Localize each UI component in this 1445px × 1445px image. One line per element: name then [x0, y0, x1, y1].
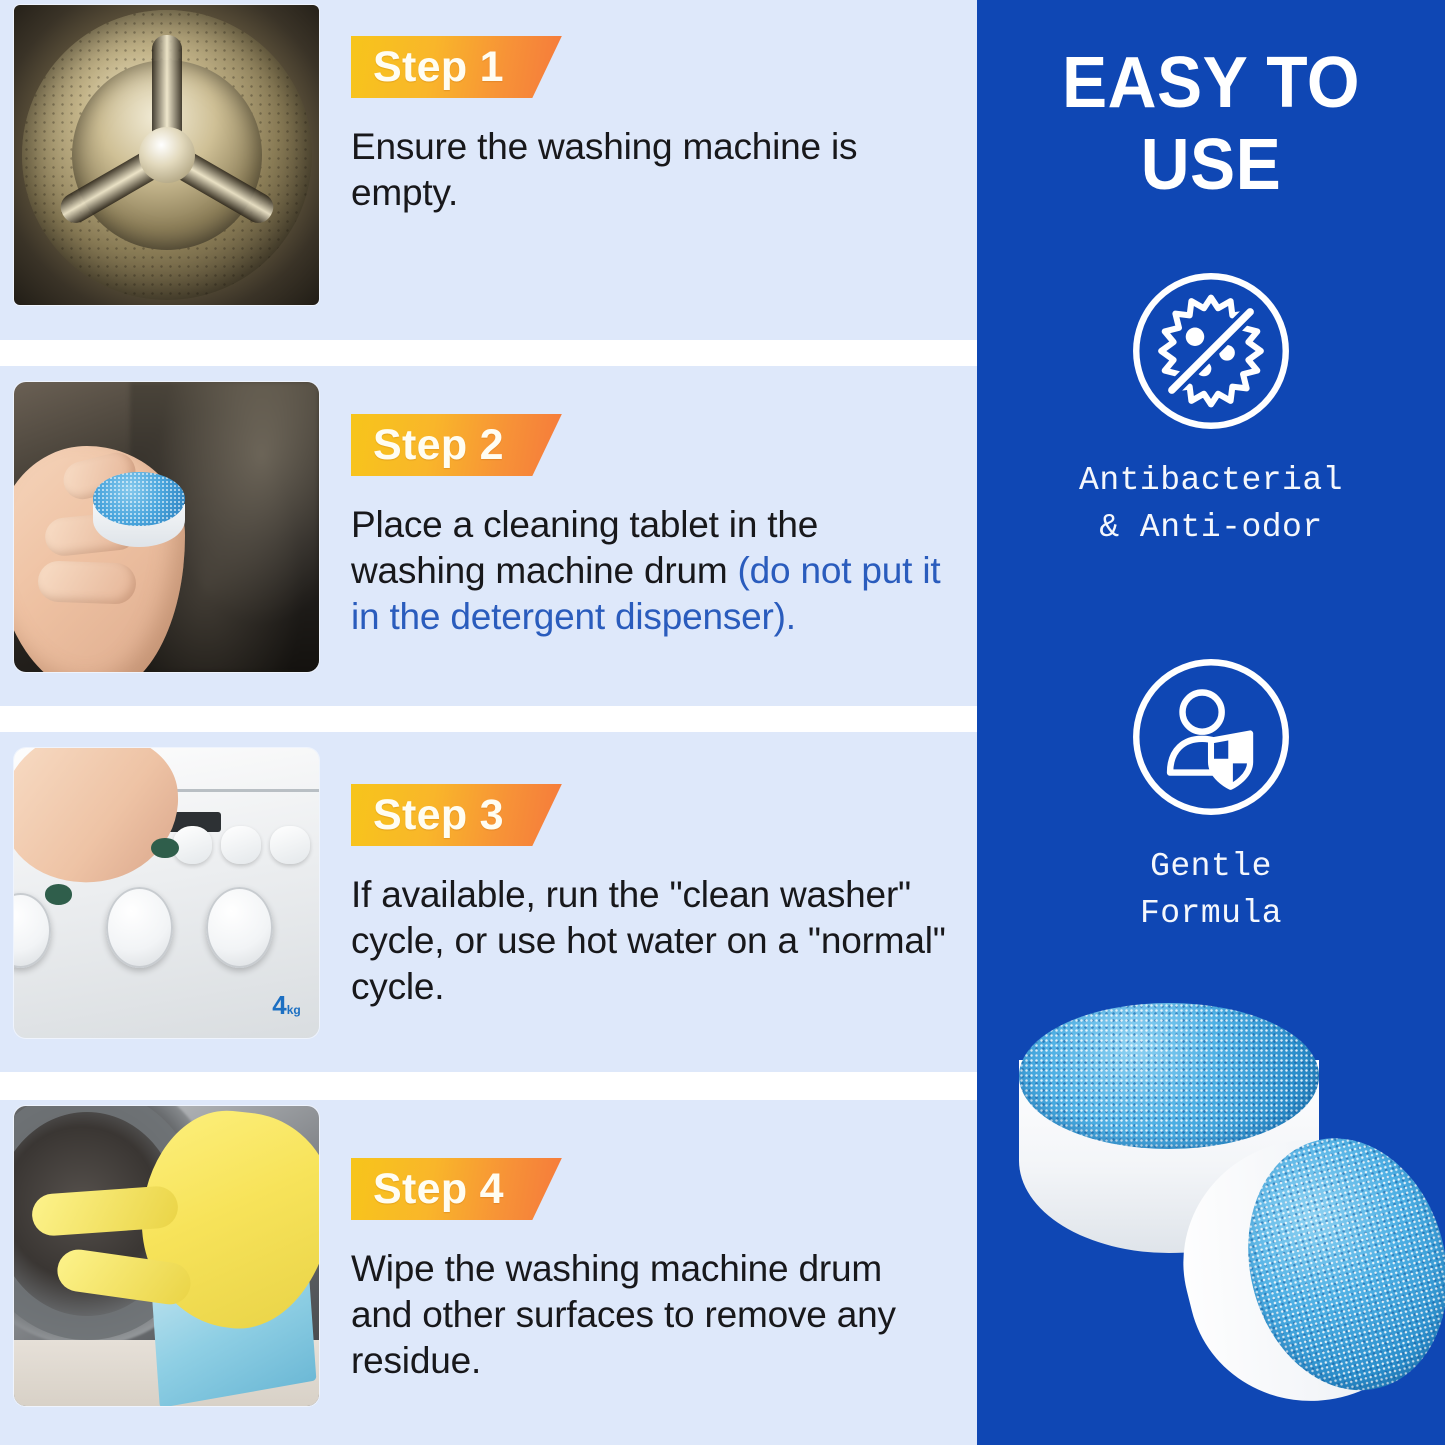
- features-panel: EASY TO USE Antibacterial & Anti-odor: [977, 0, 1445, 1445]
- section-divider: [0, 340, 977, 366]
- step-body: Step 2 Place a cleaning tablet in the wa…: [319, 366, 977, 640]
- feature-label-line: Formula: [977, 891, 1445, 938]
- step-description: If available, run the "clean washer" cyc…: [351, 872, 951, 1010]
- step-badge: Step 2: [351, 414, 562, 476]
- gentle-formula-person-shield-icon: [1122, 648, 1300, 826]
- feature-label: Antibacterial & Anti-odor: [977, 458, 1445, 552]
- step-row: Step 1 Ensure the washing machine is emp…: [0, 0, 977, 340]
- feature-gentle-formula: Gentle Formula: [977, 648, 1445, 938]
- step-body: Step 4 Wipe the washing machine drum and…: [319, 1100, 977, 1384]
- step-badge: Step 4: [351, 1158, 562, 1220]
- step-body: Step 3 If available, run the "clean wash…: [319, 732, 977, 1010]
- feature-label-line: Gentle: [977, 844, 1445, 891]
- panel-title: EASY TO USE: [991, 42, 1431, 206]
- step-badge: Step 3: [351, 784, 562, 846]
- feature-antibacterial: Antibacterial & Anti-odor: [977, 262, 1445, 552]
- step-row: Step 2 Place a cleaning tablet in the wa…: [0, 366, 977, 706]
- step-body: Step 1 Ensure the washing machine is emp…: [319, 0, 977, 216]
- capacity-badge: 4kg: [272, 990, 300, 1021]
- section-divider: [0, 1072, 977, 1098]
- step-description: Place a cleaning tablet in the washing m…: [351, 502, 951, 640]
- feature-label-line: & Anti-odor: [977, 505, 1445, 552]
- section-divider: [0, 706, 977, 732]
- feature-label-line: Antibacterial: [977, 458, 1445, 505]
- step-description-main: If available, run the "clean washer" cyc…: [351, 874, 946, 1007]
- tablet-front: [1154, 1097, 1445, 1439]
- washing-machine-control-panel-photo: 4kg: [14, 748, 319, 1038]
- step-description: Ensure the washing machine is empty.: [351, 124, 951, 216]
- washing-machine-drum-photo: [14, 5, 319, 305]
- step-description-main: Ensure the washing machine is empty.: [351, 126, 857, 213]
- step-description-main: Wipe the washing machine drum and other …: [351, 1248, 896, 1381]
- step-description: Wipe the washing machine drum and other …: [351, 1246, 951, 1384]
- gloved-hand-wiping-photo: [14, 1106, 319, 1406]
- feature-label: Gentle Formula: [977, 844, 1445, 938]
- hand-holding-tablet-photo: [14, 382, 319, 672]
- effervescent-cleaning-tablets-photo: [989, 973, 1445, 1443]
- antibacterial-germ-slash-icon: [1122, 262, 1300, 440]
- product-infographic: Step 1 Ensure the washing machine is emp…: [0, 0, 1445, 1445]
- step-row: 4kg Step 3 If available, run the "clean …: [0, 732, 977, 1072]
- step-badge: Step 1: [351, 36, 562, 98]
- steps-column: Step 1 Ensure the washing machine is emp…: [0, 0, 977, 1445]
- step-row: Step 4 Wipe the washing machine drum and…: [0, 1100, 977, 1445]
